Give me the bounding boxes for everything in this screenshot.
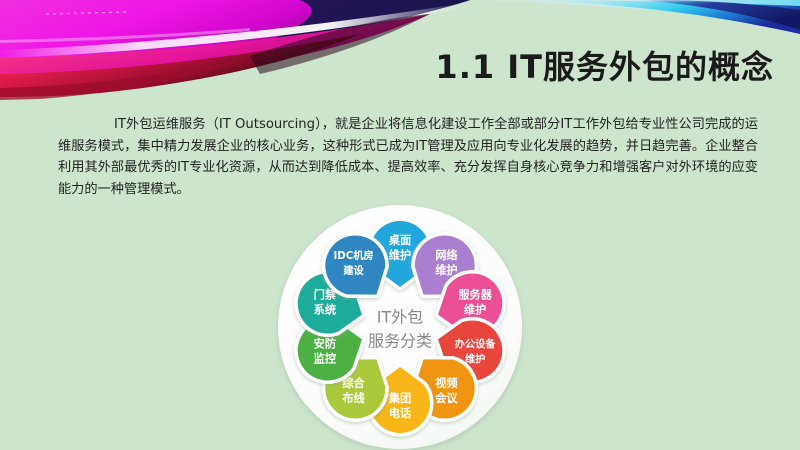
page-title: 1.1 IT服务外包的概念 — [435, 47, 774, 87]
slide-canvas: 1.1 IT服务外包的概念 IT外包运维服务（IT Outsourcing），就… — [0, 0, 800, 450]
diagram-center-line1: IT外包 — [377, 308, 424, 327]
it-outsourcing-service-categories-wheel: 桌面维护网络维护服务器维护办公设备维护视频会议集团电话综合布线安防监控门禁系统I… — [256, 203, 544, 450]
diagram-center-line2: 服务分类 — [368, 332, 432, 351]
petal-idc-datacenter-construction[interactable]: IDC机房建设 — [325, 236, 385, 295]
petal-idc-datacenter-construction-shape[interactable] — [325, 236, 385, 295]
body-paragraph: IT外包运维服务（IT Outsourcing），就是企业将信息化建设工作全部或… — [58, 114, 758, 200]
